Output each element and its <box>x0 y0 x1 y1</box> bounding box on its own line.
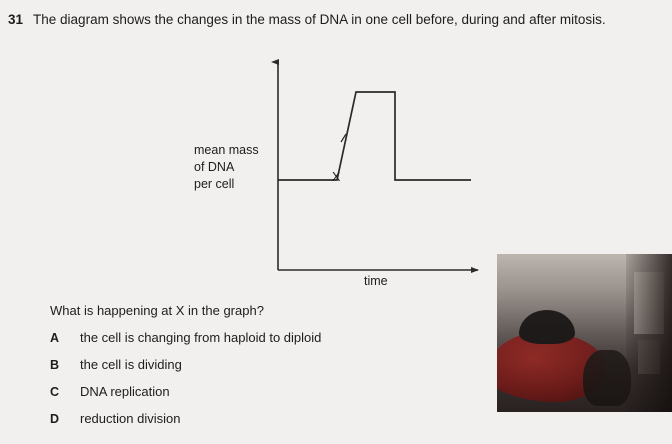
photo-shading <box>497 254 672 412</box>
y-axis-label-line2: of DNA <box>194 159 259 176</box>
option-d[interactable]: D reduction division <box>50 411 470 438</box>
question-header: 31 The diagram shows the changes in the … <box>8 12 668 28</box>
option-b-letter: B <box>50 358 80 372</box>
option-a-letter: A <box>50 331 80 345</box>
question-prompt: What is happening at X in the graph? <box>50 303 264 318</box>
answer-options: A the cell is changing from haploid to d… <box>50 330 470 438</box>
worksheet-page: 31 The diagram shows the changes in the … <box>0 0 672 444</box>
option-c-letter: C <box>50 385 80 399</box>
y-axis-label-line3: per cell <box>194 176 259 193</box>
option-c[interactable]: C DNA replication <box>50 384 470 411</box>
y-axis-label: mean mass of DNA per cell <box>194 142 259 193</box>
y-axis-label-line1: mean mass <box>194 142 259 159</box>
option-b-text: the cell is dividing <box>80 357 182 372</box>
option-a[interactable]: A the cell is changing from haploid to d… <box>50 330 470 357</box>
point-x-label: X <box>332 170 340 184</box>
option-c-text: DNA replication <box>80 384 170 399</box>
dna-mass-diagram: mean mass of DNA per cell time X <box>186 52 486 292</box>
question-number: 31 <box>8 12 23 28</box>
option-d-text: reduction division <box>80 411 180 426</box>
dna-mass-curve <box>278 92 471 180</box>
option-b[interactable]: B the cell is dividing <box>50 357 470 384</box>
option-a-text: the cell is changing from haploid to dip… <box>80 330 321 345</box>
option-d-letter: D <box>50 412 80 426</box>
x-axis-label: time <box>364 274 388 288</box>
question-stem: The diagram shows the changes in the mas… <box>33 12 606 28</box>
webcam-photo-overlay <box>497 254 672 412</box>
